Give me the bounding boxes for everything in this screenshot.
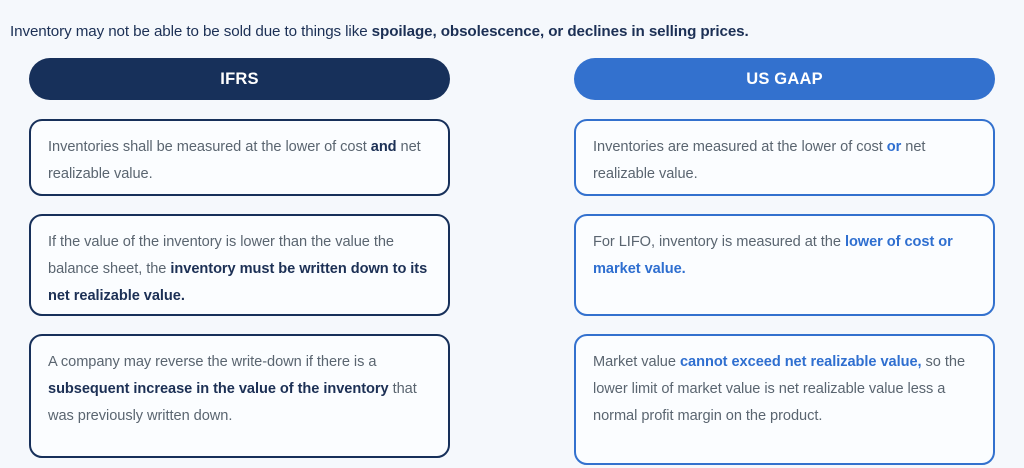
gaap-card-3: Market value cannot exceed net realizabl… (574, 334, 995, 465)
body-text-0: Market value (593, 354, 680, 370)
gaap-card-1: Inventories are measured at the lower of… (574, 119, 995, 196)
body-text-0: For LIFO, inventory is measured at the (593, 234, 845, 250)
emphasis-text-1: or (887, 139, 902, 155)
ifrs-card-2: If the value of the inventory is lower t… (29, 214, 450, 316)
ifrs-card-1: Inventories shall be measured at the low… (29, 119, 450, 196)
body-text-0: A company may reverse the write-down if … (48, 354, 376, 370)
gaap-card-2: For LIFO, inventory is measured at the l… (574, 214, 995, 316)
column-header-ifrs-label: IFRS (220, 70, 258, 89)
intro-lead: Inventory may not be able to be sold due… (10, 23, 372, 40)
body-text-0: Inventories shall be measured at the low… (48, 139, 371, 155)
column-header-us-gaap-label: US GAAP (746, 70, 823, 89)
column-us-gaap: US GAAP Inventories are measured at the … (574, 58, 995, 465)
column-header-ifrs: IFRS (29, 58, 450, 100)
emphasis-text-1: cannot exceed net realizable value, (680, 354, 922, 370)
intro-emphasis: spoilage, obsolescence, or declines in s… (372, 23, 749, 40)
column-header-us-gaap: US GAAP (574, 58, 995, 100)
emphasis-text-1: and (371, 139, 397, 155)
ifrs-card-3: A company may reverse the write-down if … (29, 334, 450, 458)
body-text-0: Inventories are measured at the lower of… (593, 139, 887, 155)
emphasis-text-1: subsequent increase in the value of the … (48, 381, 389, 397)
intro-text: Inventory may not be able to be sold due… (10, 21, 1014, 43)
comparison-columns: IFRS Inventories shall be measured at th… (0, 58, 1024, 465)
comparison-page: Inventory may not be able to be sold due… (0, 0, 1024, 468)
column-ifrs: IFRS Inventories shall be measured at th… (29, 58, 450, 465)
